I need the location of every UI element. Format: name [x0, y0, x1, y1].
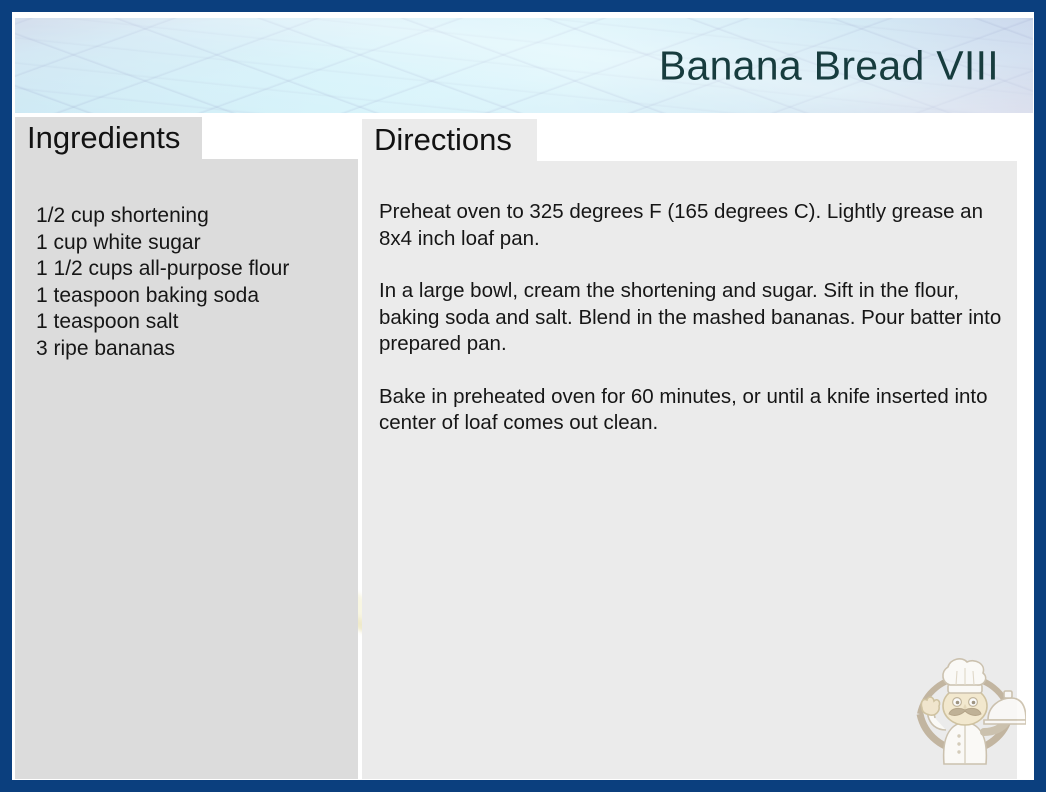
list-item: 1 teaspoon baking soda [36, 283, 348, 310]
page-title: Banana Bread VIII [659, 42, 999, 89]
list-item: 1 teaspoon salt [36, 309, 348, 336]
direction-step: Bake in preheated oven for 60 minutes, o… [379, 384, 1019, 437]
ingredient-list: 1/2 cup shortening 1 cup white sugar 1 1… [36, 203, 348, 362]
direction-step: Preheat oven to 325 degrees F (165 degre… [379, 199, 1019, 252]
list-item: 3 ripe bananas [36, 336, 348, 363]
direction-steps: Preheat oven to 325 degrees F (165 degre… [379, 199, 1019, 437]
tab-ingredients-label: Ingredients [27, 120, 180, 156]
header-banner: Banana Bread VIII [15, 18, 1033, 113]
list-item: 1 1/2 cups all-purpose flour [36, 256, 348, 283]
list-item: 1/2 cup shortening [36, 203, 348, 230]
recipe-card: Banana Bread VIII [0, 0, 1046, 792]
directions-panel: Directions Preheat oven to 325 degrees F… [362, 161, 1017, 779]
tab-directions[interactable]: Directions [362, 119, 537, 161]
direction-step: In a large bowl, cream the shortening an… [379, 278, 1019, 358]
tab-directions-label: Directions [374, 122, 512, 158]
list-item: 1 cup white sugar [36, 230, 348, 257]
ingredients-panel: Ingredients 1/2 cup shortening 1 cup whi… [15, 159, 358, 779]
tab-ingredients[interactable]: Ingredients [15, 117, 202, 159]
recipe-page: Banana Bread VIII [12, 12, 1034, 780]
